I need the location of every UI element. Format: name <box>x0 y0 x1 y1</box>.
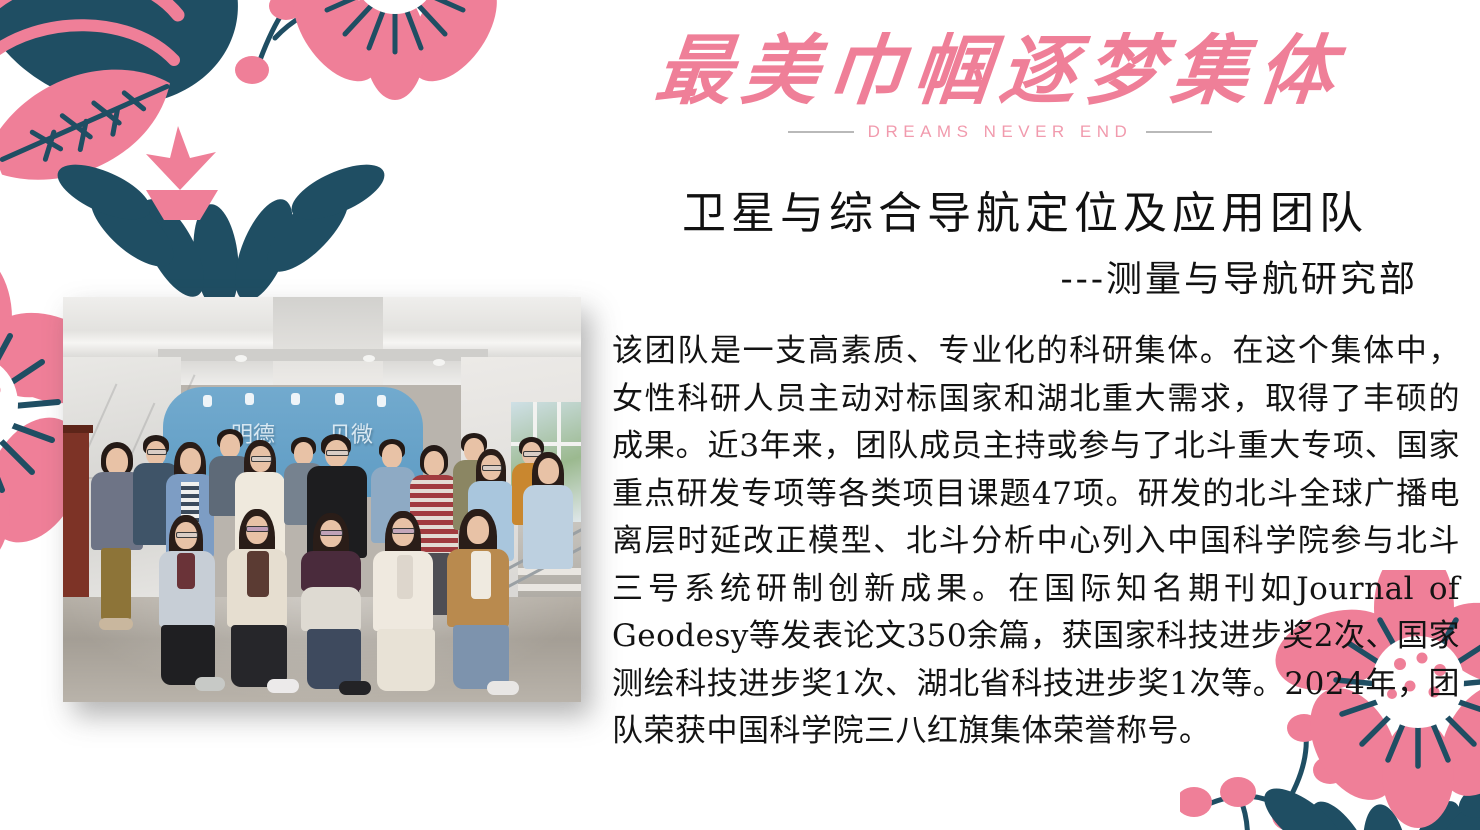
track-light <box>245 393 254 405</box>
slide-canvas: 最美巾帼逐梦集体 DREAMS NEVER END 卫星与综合导航定位及应用团队… <box>0 0 1480 830</box>
rule-left <box>788 131 854 133</box>
photo-content: 明德 见微 <box>63 297 581 702</box>
team-name-heading: 卫星与综合导航定位及应用团队 <box>620 185 1430 243</box>
ceiling-light <box>235 355 247 362</box>
track-light <box>335 393 344 405</box>
photo-ceiling-beam <box>273 297 383 385</box>
photo-door-frame <box>63 425 93 433</box>
track-light <box>377 395 386 407</box>
page-title: 最美巾帼逐梦集体 <box>595 22 1405 120</box>
photo-door <box>63 427 89 602</box>
rule-right <box>1146 131 1212 133</box>
subtitle-english: DREAMS NEVER END <box>868 122 1133 142</box>
track-light <box>291 393 300 405</box>
team-group-photo: 明德 见微 <box>63 297 581 702</box>
subtitle-row: DREAMS NEVER END <box>600 122 1400 142</box>
team-department-subheading: ---测量与导航研究部 <box>620 255 1430 305</box>
title-block: 最美巾帼逐梦集体 DREAMS NEVER END <box>600 22 1400 167</box>
track-light <box>203 395 212 407</box>
ceiling-light <box>433 359 445 366</box>
team-description-paragraph: 该团队是一支高素质、专业化的科研集体。在这个集体中，女性科研人员主动对标国家和湖… <box>612 328 1460 756</box>
ceiling-light <box>363 355 375 362</box>
